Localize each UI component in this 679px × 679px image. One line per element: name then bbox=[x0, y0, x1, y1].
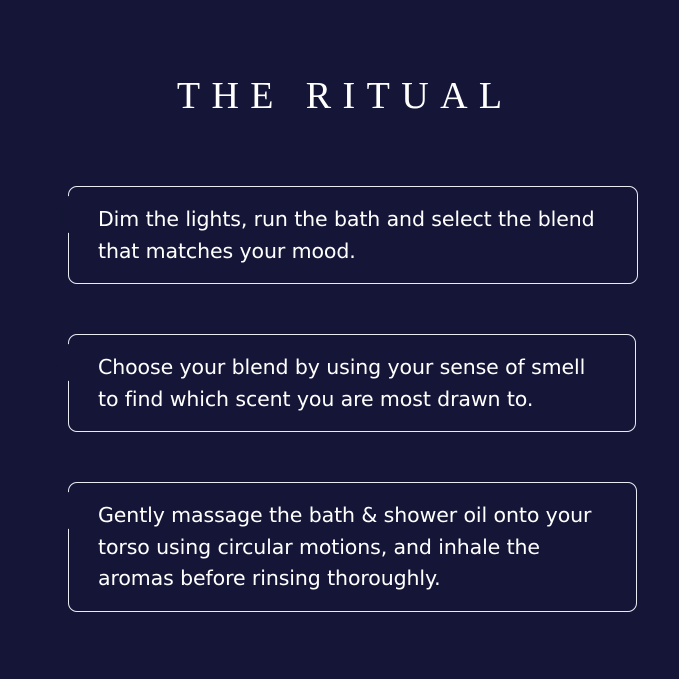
step-text: Choose your blend by using your sense of… bbox=[98, 352, 615, 415]
page-title: THE RITUAL bbox=[0, 74, 679, 118]
step-box: Dim the lights, run the bath and select … bbox=[68, 186, 638, 284]
step-text: Dim the lights, run the bath and select … bbox=[98, 204, 617, 267]
ritual-poster: THE RITUAL 1 Dim the lights, run the bat… bbox=[0, 0, 679, 679]
step-number-badge: 1 bbox=[40, 195, 79, 234]
step-box: Choose your blend by using your sense of… bbox=[68, 334, 636, 432]
step-number-badge: 2 bbox=[40, 343, 79, 382]
step-text: Gently massage the bath & shower oil ont… bbox=[98, 500, 616, 595]
list-item: 2 Choose your blend by using your sense … bbox=[68, 334, 636, 432]
step-box: Gently massage the bath & shower oil ont… bbox=[68, 482, 637, 612]
list-item: 3 Gently massage the bath & shower oil o… bbox=[68, 482, 637, 612]
steps-list: 1 Dim the lights, run the bath and selec… bbox=[0, 186, 679, 612]
step-number-badge: 3 bbox=[40, 491, 79, 530]
list-item: 1 Dim the lights, run the bath and selec… bbox=[68, 186, 638, 284]
